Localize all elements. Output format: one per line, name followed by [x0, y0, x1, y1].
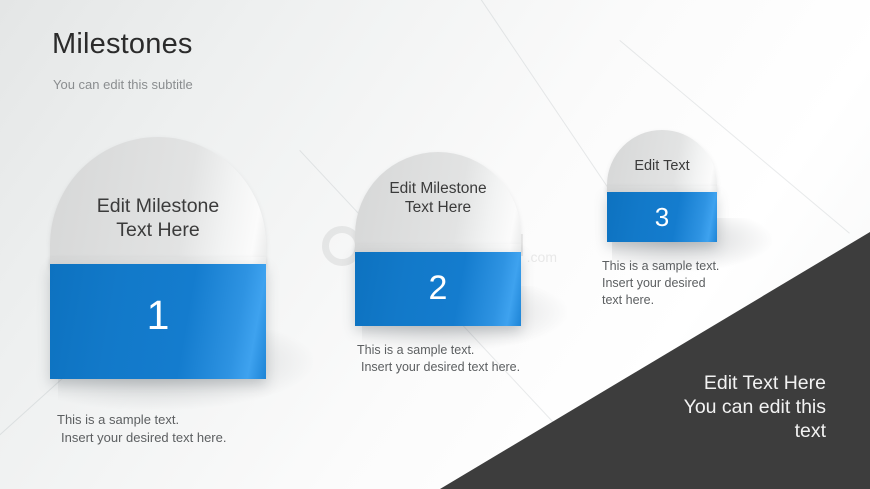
milestone-3-headline-line1: Edit Text: [607, 158, 717, 176]
milestone-1-caption-line2: Insert your desired text here.: [57, 429, 226, 447]
milestone-2[interactable]: Edit Milestone Text Here 2: [355, 152, 521, 326]
milestone-2-number: 2: [355, 269, 521, 308]
milestone-3-caption-line2: Insert your desired: [602, 275, 719, 292]
milestone-2-headline-line1: Edit Milestone: [355, 180, 521, 199]
milestone-3-caption-line3: text here.: [602, 292, 719, 309]
milestone-3-number: 3: [607, 202, 717, 233]
milestone-1[interactable]: Edit Milestone Text Here 1: [50, 137, 266, 379]
dark-panel-line1: Edit Text Here: [526, 371, 826, 395]
milestone-1-caption: This is a sample text. Insert your desir…: [57, 411, 226, 446]
milestone-2-headline: Edit Milestone Text Here: [355, 180, 521, 218]
milestone-1-headline-line1: Edit Milestone: [50, 195, 266, 219]
milestone-1-headline: Edit Milestone Text Here: [50, 195, 266, 243]
milestone-2-headline-line2: Text Here: [355, 199, 521, 218]
watermark-suffix: .com: [527, 249, 557, 265]
milestone-2-caption-line1: This is a sample text.: [357, 342, 520, 359]
milestone-3-caption-line1: This is a sample text.: [602, 258, 719, 275]
milestone-1-headline-line2: Text Here: [50, 219, 266, 243]
page-title: Milestones: [52, 28, 193, 61]
milestone-2-caption-line2: Insert your desired text here.: [357, 359, 520, 376]
milestone-1-number: 1: [50, 292, 266, 339]
milestone-2-caption: This is a sample text. Insert your desir…: [357, 342, 520, 376]
milestone-1-caption-line1: This is a sample text.: [57, 411, 226, 429]
milestone-3[interactable]: Edit Text 3: [607, 130, 717, 242]
milestone-3-caption: This is a sample text. Insert your desir…: [602, 258, 719, 309]
dark-panel-line3: text: [526, 419, 826, 443]
slide-canvas: SlideModel .com Milestones You can edit …: [0, 0, 870, 489]
dark-panel-text[interactable]: Edit Text Here You can edit this text: [526, 371, 826, 443]
milestone-3-headline: Edit Text: [607, 158, 717, 176]
page-subtitle: You can edit this subtitle: [53, 77, 193, 92]
dark-panel-line2: You can edit this: [526, 395, 826, 419]
